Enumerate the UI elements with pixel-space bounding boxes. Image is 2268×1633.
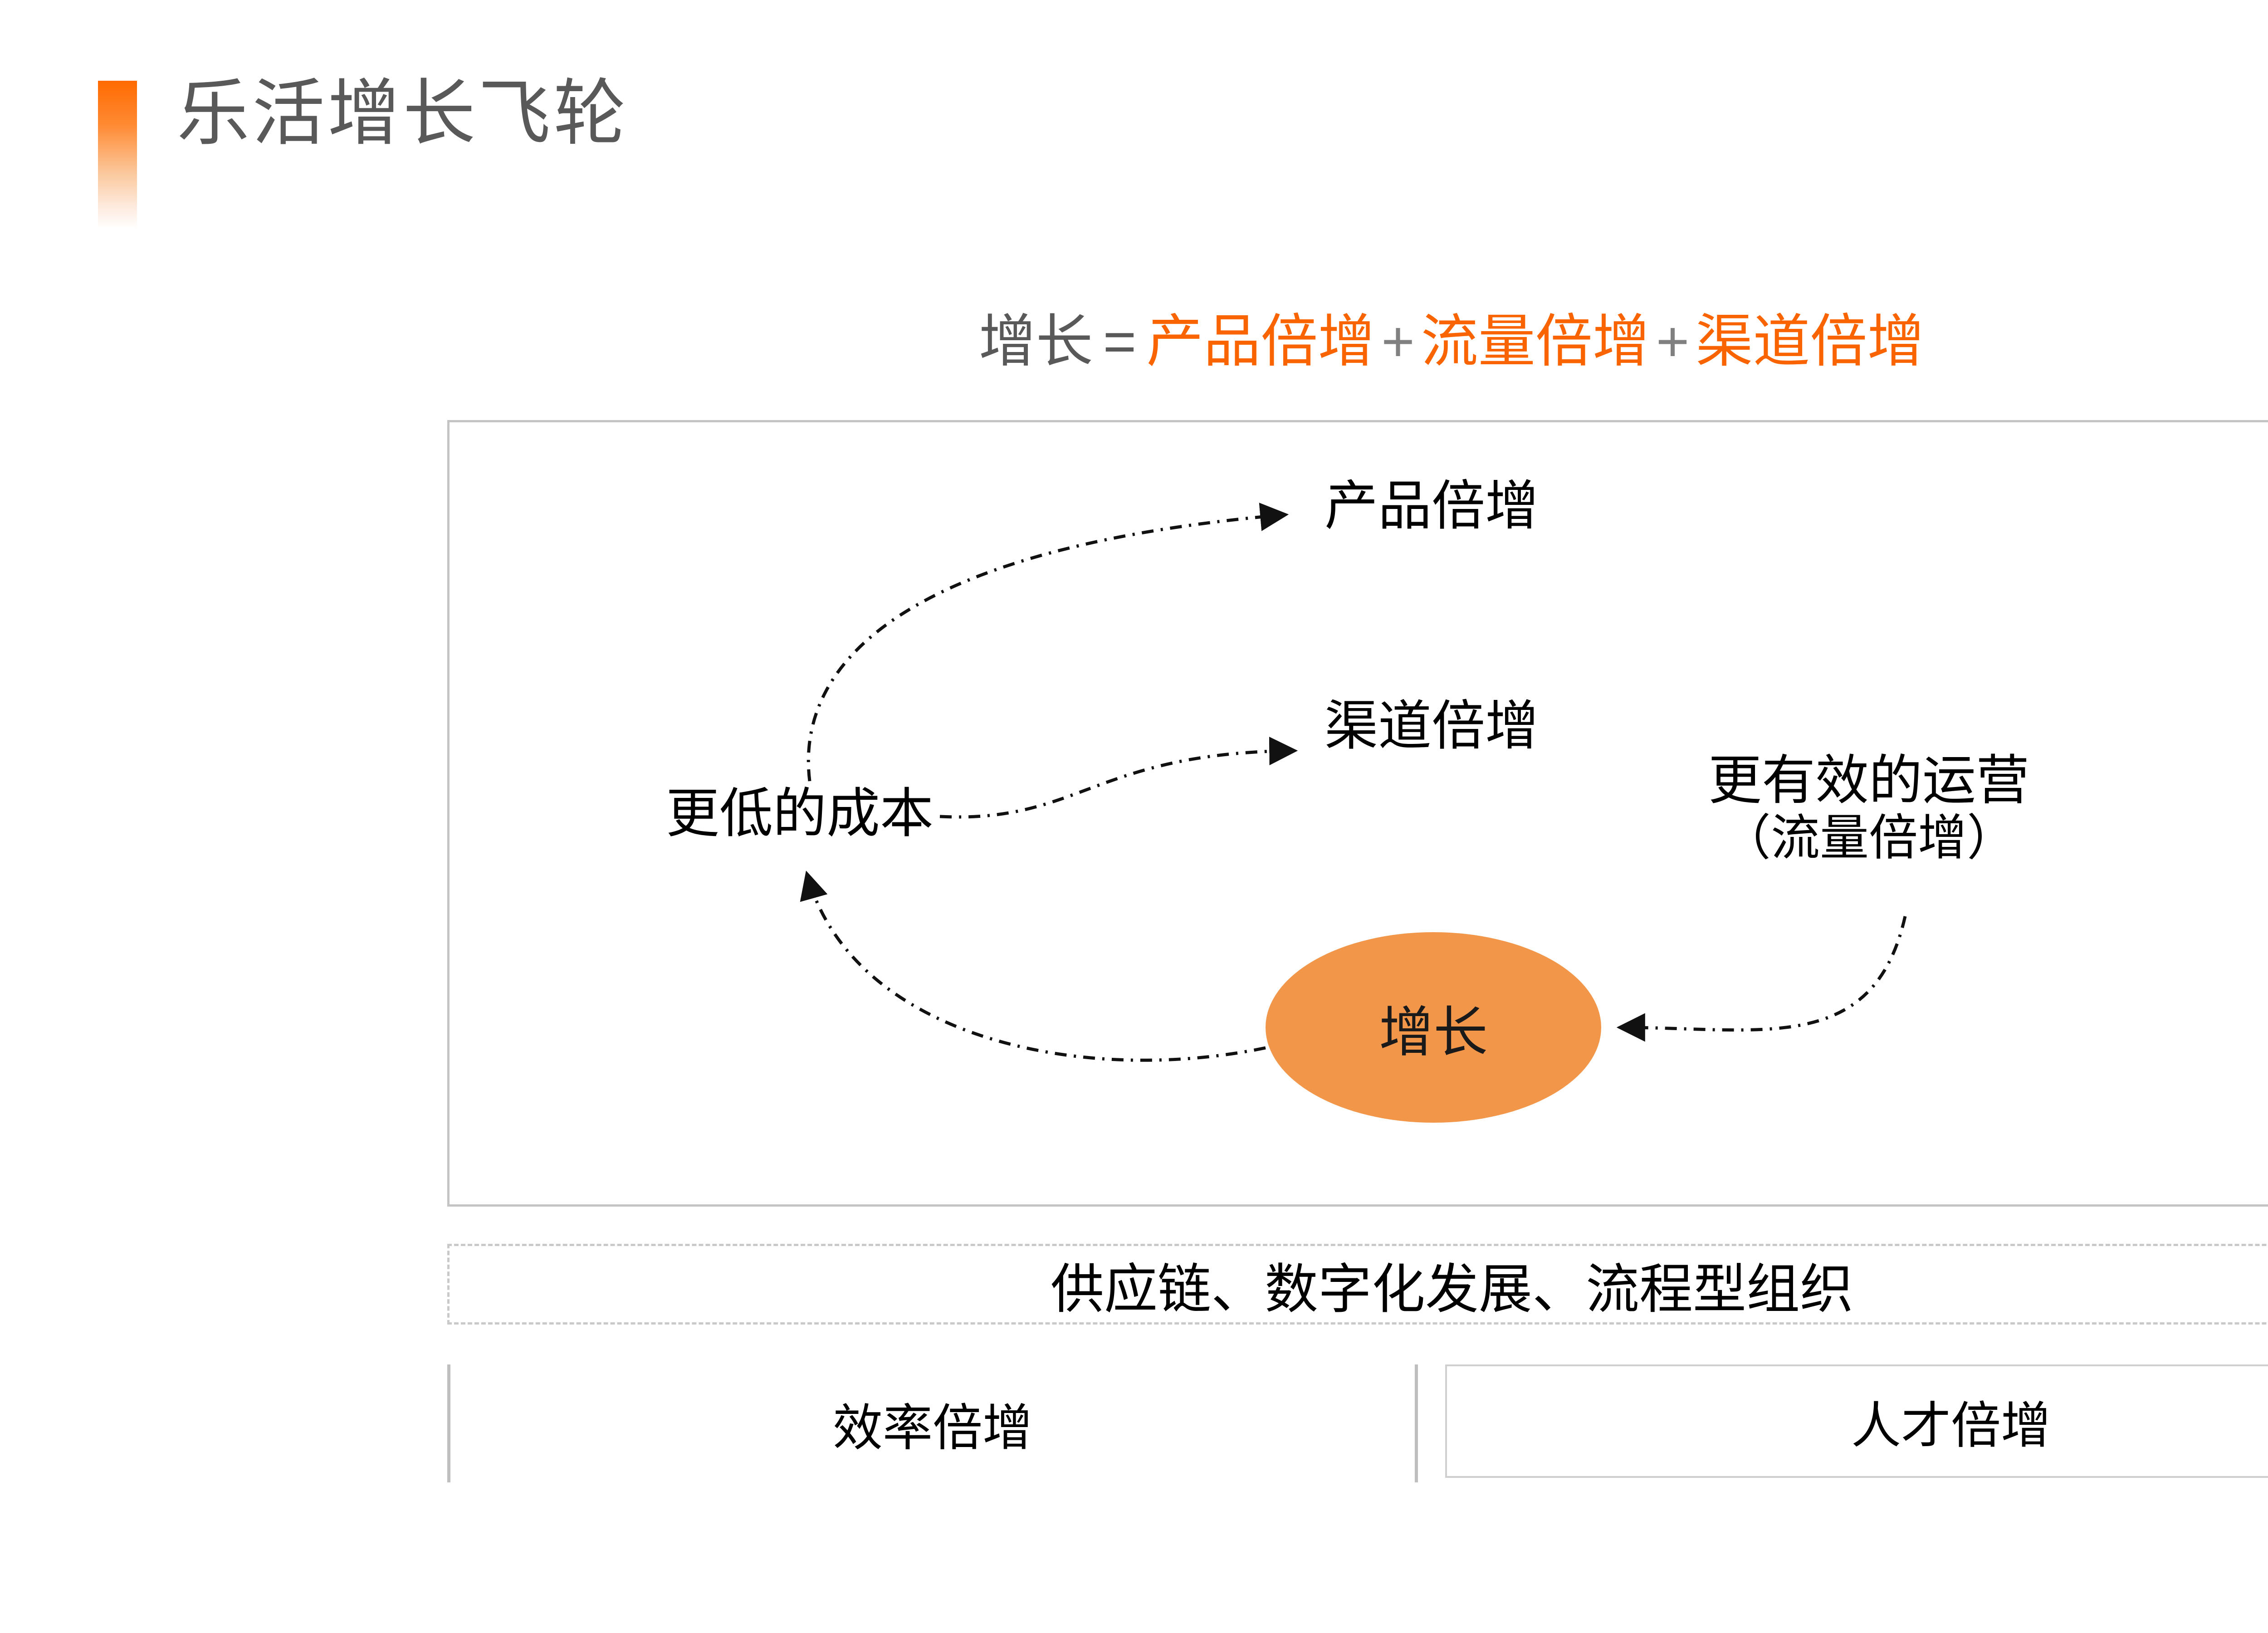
foundation-label: 供应链、数字化发展、流程型组织 [1051,1246,1853,1323]
page-title: 乐活增长飞轮 [177,77,629,150]
formula-term-2: 流量倍增 [1421,309,1650,373]
node-effective-operations: 更有效的运营 （流量倍增） [1708,751,2029,865]
growth-formula: 增长=产品倍增+流量倍增+渠道倍增 [0,313,2268,370]
formula-plus-2: + [1650,309,1696,373]
bottom-boxes-row: 效率倍增 人才倍增 [447,1364,2268,1482]
box-talent-label: 人才倍增 [1851,1385,2051,1457]
node-channel-multiplication: 渠道倍增 [1325,696,1539,756]
title-accent-bar [98,81,137,229]
node-lower-cost: 更低的成本 [666,784,934,844]
formula-lhs: 增长 [979,309,1093,373]
formula-term-3: 渠道倍增 [1696,309,1924,373]
slide-canvas: 乐活增长飞轮 lifewit 与人们共创美好家居生活 增长=产品倍增+流量倍增+… [0,0,2268,1633]
formula-plus-1: + [1375,309,1421,373]
node-growth-center: 增长 [1266,932,1601,1123]
node-operations-main: 更有效的运营 [1708,751,2029,811]
box-efficiency-multiplication: 效率倍增 [447,1364,1418,1482]
node-product-multiplication: 产品倍增 [1325,476,1539,536]
node-operations-sub: （流量倍增） [1708,811,2029,865]
formula-equals: = [1093,309,1147,373]
formula-term-1: 产品倍增 [1146,309,1375,373]
foundation-band: 供应链、数字化发展、流程型组织 [447,1244,2268,1325]
box-talent-multiplication: 人才倍增 [1445,1364,2268,1478]
box-efficiency-label: 效率倍增 [833,1387,1032,1460]
node-growth-label: 增长 [1379,988,1488,1067]
